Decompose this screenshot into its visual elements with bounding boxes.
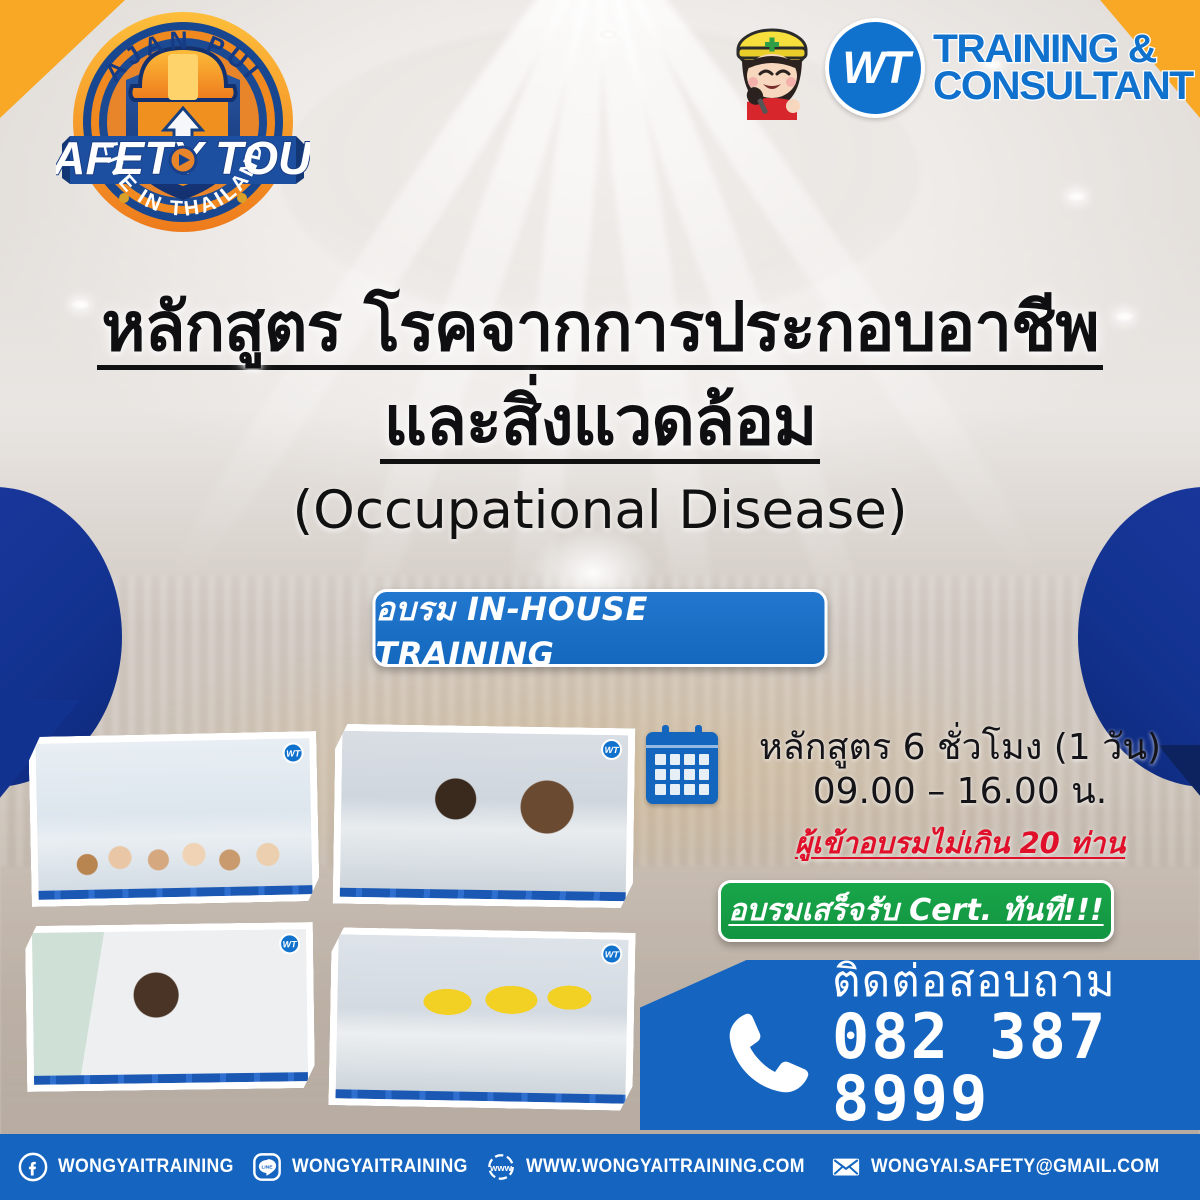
poster-canvas: SAFETY TOUR AJAN PUI LIVE IN THAILAND (0, 0, 1200, 1200)
course-title-thai-line1: หลักสูตร โรคจากการประกอบอาชีพ (97, 292, 1102, 370)
svg-text:LINE: LINE (262, 1164, 274, 1170)
calendar-icon (646, 732, 718, 804)
safety-helmet-shield-icon: SAFETY TOUR AJAN PUI LIVE IN THAILAND (56, 8, 310, 240)
contact-label: ติดต่อสอบถาม (832, 960, 1200, 1004)
certificate-badge: อบรมเสร็จรับ Cert. ทันที!!! (718, 880, 1114, 942)
www-icon: www (486, 1152, 516, 1182)
course-info-block: หลักสูตร 6 ชั่วโมง (1 วัน) 09.00 – 16.00… (646, 726, 1186, 942)
footer-line-label: WONGYAITRAINING (292, 1156, 468, 1178)
wt-wordmark-line1: TRAINING & (933, 31, 1193, 68)
footer-item-line[interactable]: LINE WONGYAITRAINING (252, 1152, 481, 1182)
wt-monogram-badge: WT (825, 18, 925, 118)
certificate-label: อบรมเสร็จรับ Cert. ทันที!!! (728, 887, 1103, 934)
footer-website-label: WWW.WONGYAITRAINING.COM (526, 1156, 805, 1178)
footer-item-email[interactable]: WONGYAI.SAFETY@GMAIL.COM (831, 1152, 1181, 1182)
course-title-thai-line2: และสิ่งแวดล้อม (380, 386, 821, 464)
headline-block: หลักสูตร โรคจากการประกอบอาชีพ และสิ่งแวด… (0, 292, 1200, 541)
facebook-icon (18, 1152, 48, 1182)
course-time: 09.00 – 16.00 น. (734, 770, 1186, 814)
contact-phone-number[interactable]: 082 387 8999 (832, 1006, 1200, 1130)
footer-facebook-label: WONGYAITRAINING (58, 1156, 234, 1178)
svg-text:www: www (489, 1163, 513, 1173)
contact-panel: ติดต่อสอบถาม 082 387 8999 (640, 960, 1200, 1130)
footer-item-website[interactable]: www WWW.WONGYAITRAINING.COM (486, 1152, 826, 1182)
footer-item-facebook[interactable]: WONGYAITRAINING (18, 1152, 247, 1182)
engineer-mascot-icon (727, 16, 817, 120)
inhouse-training-badge[interactable]: อบรม IN-HOUSE TRAINING (373, 589, 828, 667)
footer-email-label: WONGYAI.SAFETY@GMAIL.COM (871, 1156, 1160, 1178)
course-title-english: (Occupational Disease) (0, 480, 1200, 541)
safety-tour-logo: SAFETY TOUR AJAN PUI LIVE IN THAILAND (56, 8, 310, 240)
inhouse-training-label: อบรม IN-HOUSE TRAINING (376, 584, 825, 673)
footer-bar: WONGYAITRAINING LINE WONGYAITRAINING www… (0, 1134, 1200, 1200)
phone-icon (718, 1004, 814, 1100)
gallery-photo: WT (333, 724, 636, 909)
course-capacity-note: ผู้เข้าอบรมไม่เกิน 20 ท่าน (734, 820, 1186, 866)
email-icon (831, 1152, 861, 1182)
wt-wordmark-line2: CONSULTANT (933, 68, 1193, 105)
wt-wordmark: TRAINING & CONSULTANT (933, 31, 1188, 105)
gallery-photo: WT (28, 731, 319, 907)
wt-monogram-text: WT (842, 42, 908, 94)
gallery-photo: WT (25, 922, 315, 1092)
course-duration: หลักสูตร 6 ชั่วโมง (1 วัน) (734, 726, 1186, 770)
wt-brand-logo: WT TRAINING & CONSULTANT (727, 6, 1188, 130)
training-photo-gallery: WT WT WT WT (22, 716, 642, 1086)
gallery-photo: WT (328, 927, 635, 1111)
line-icon: LINE (252, 1152, 282, 1182)
